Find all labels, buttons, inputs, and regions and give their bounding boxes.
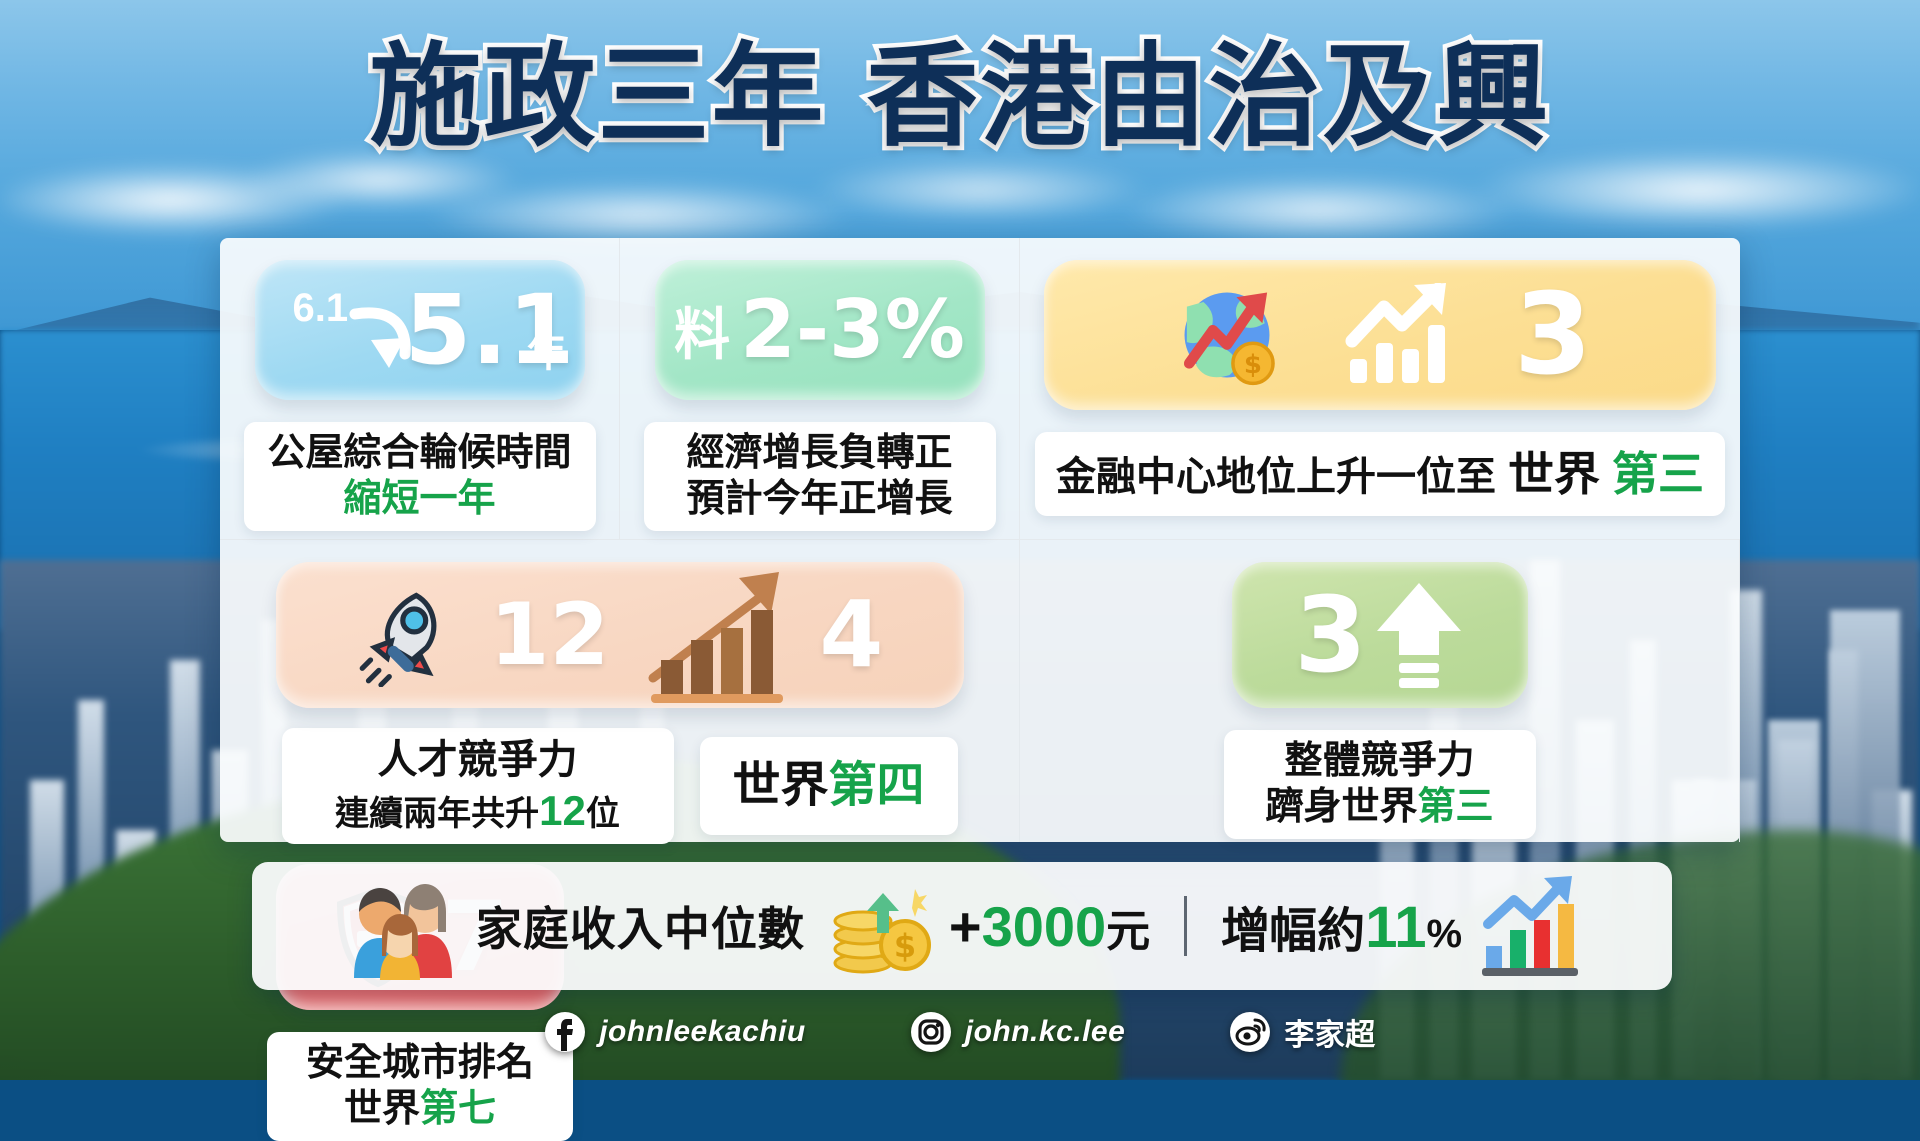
caption-line-1: 人才競爭力	[298, 736, 658, 785]
forecast-prefix: 料	[674, 290, 730, 371]
card-economic-growth: 料 2-3% 經濟增長負轉正 預計今年正增長	[620, 238, 1020, 540]
public-housing-badge: 6.1 5.1 年	[255, 260, 585, 400]
caption-line-2-prefix: 世界	[344, 1088, 420, 1130]
economic-growth-badge: 料 2-3%	[655, 260, 985, 400]
caption-line-2: 躋身世界第三	[1240, 784, 1520, 830]
caption-line-1: 經濟增長負轉正	[660, 430, 980, 476]
talent-rise-count: 12	[490, 592, 610, 678]
caption-prefix: 金融中心地位上升一位至	[1056, 453, 1496, 502]
household-income-banner: 家庭收入中位數 $ +3000元 增幅約11%	[252, 862, 1672, 990]
divider	[1184, 896, 1187, 956]
caption-world: 世界	[1508, 446, 1600, 502]
card-talent-competitiveness: 12 4 人才競爭力 連續兩年共升12位 世界第四	[220, 540, 1020, 842]
family-icon	[342, 870, 460, 982]
caption-line-1: 整體競爭力	[1240, 738, 1520, 784]
facebook-icon[interactable]	[544, 1011, 586, 1053]
globe-growth-icon: $	[1168, 276, 1286, 394]
up-arrow-icon	[1373, 579, 1465, 691]
overall-competitiveness-caption: 整體競爭力 躋身世界第三	[1224, 730, 1536, 839]
card-overall-competitiveness: 3 整體競爭力 躋身世界第三	[1020, 540, 1740, 842]
gdp-growth-range: 2-3%	[740, 290, 965, 370]
growth-label: 增幅約	[1221, 905, 1365, 958]
svg-text:$: $	[894, 927, 916, 965]
caption-line-1: 公屋綜合輪候時間	[260, 430, 580, 476]
card-public-housing: 6.1 5.1 年 公屋綜合輪候時間 縮短一年	[220, 238, 620, 540]
talent-caption: 人才競爭力 連續兩年共升12位	[282, 728, 674, 844]
unit-year: 年	[527, 320, 567, 378]
financial-centre-rank-number: 3	[1514, 279, 1592, 391]
income-increase-amount: +3000元	[949, 894, 1150, 959]
plus-sign: +	[949, 895, 982, 958]
caption-line-2: 世界第七	[283, 1086, 557, 1132]
financial-centre-badge: $ 3	[1044, 260, 1716, 410]
social-footer: johnleekachiu john.kc.lee 李家超	[0, 1004, 1920, 1060]
caption-line-2-suffix: 位	[586, 795, 620, 833]
previous-value: 6.1	[293, 286, 349, 331]
caption-rank: 第四	[829, 759, 925, 812]
overall-competitiveness-badge: 3	[1232, 562, 1528, 708]
bar-chart-arrow-icon	[639, 570, 789, 710]
weibo-icon[interactable]	[1229, 1011, 1271, 1053]
currency-unit: 元	[1106, 907, 1150, 956]
rocket-icon	[356, 583, 460, 687]
caption-rise-number: 12	[539, 787, 586, 834]
caption-line-2: 連續兩年共升12位	[298, 785, 658, 836]
economic-growth-caption: 經濟增長負轉正 預計今年正增長	[644, 422, 996, 531]
growth-value: 11	[1365, 895, 1426, 960]
caption-line-2-prefix: 躋身世界	[1265, 786, 1417, 828]
coins-up-arrow-icon: $	[829, 877, 933, 975]
bar-chart-arrow-icon	[1344, 283, 1456, 387]
facebook-handle[interactable]: johnleekachiu	[599, 1015, 806, 1049]
colored-bar-chart-icon	[1478, 876, 1582, 976]
card-financial-centre: $ 3 金融中心地位上升一位至 世界 第三	[1020, 238, 1740, 540]
caption-rank: 第七	[420, 1088, 496, 1130]
amount-value: 3000	[982, 895, 1107, 958]
page-title: 施政三年 香港由治及興	[0, 34, 1920, 159]
caption-line-2: 預計今年正增長	[660, 476, 980, 522]
household-income-label: 家庭收入中位數	[476, 893, 805, 959]
stats-panel: 6.1 5.1 年 公屋綜合輪候時間 縮短一年 料 2-3% 經濟增長負轉正 預…	[220, 238, 1740, 842]
caption-rank: 第三	[1418, 786, 1494, 828]
caption-rank: 第三	[1612, 446, 1704, 502]
public-housing-caption: 公屋綜合輪候時間 縮短一年	[244, 422, 596, 531]
income-growth-rate: 增幅約11%	[1221, 891, 1462, 961]
talent-badge: 12 4	[276, 562, 964, 708]
talent-world-rank: 4	[819, 589, 883, 681]
instagram-icon[interactable]	[910, 1011, 952, 1053]
weibo-handle[interactable]: 李家超	[1284, 1010, 1376, 1054]
overall-rank-number: 3	[1294, 583, 1366, 687]
caption-world: 世界	[732, 759, 828, 812]
social-instagram[interactable]: john.kc.lee	[910, 1011, 1126, 1053]
caption-line-2: 縮短一年	[260, 476, 580, 522]
social-weibo[interactable]: 李家超	[1229, 1010, 1376, 1054]
svg-text:$: $	[1244, 350, 1262, 380]
talent-rank-caption: 世界第四	[700, 737, 958, 836]
social-facebook[interactable]: johnleekachiu	[544, 1011, 806, 1053]
caption-line-2-prefix: 連續兩年共升	[335, 795, 539, 833]
financial-centre-caption: 金融中心地位上升一位至 世界 第三	[1035, 432, 1725, 516]
instagram-handle[interactable]: john.kc.lee	[965, 1015, 1126, 1049]
percent-sign: %	[1427, 912, 1463, 956]
